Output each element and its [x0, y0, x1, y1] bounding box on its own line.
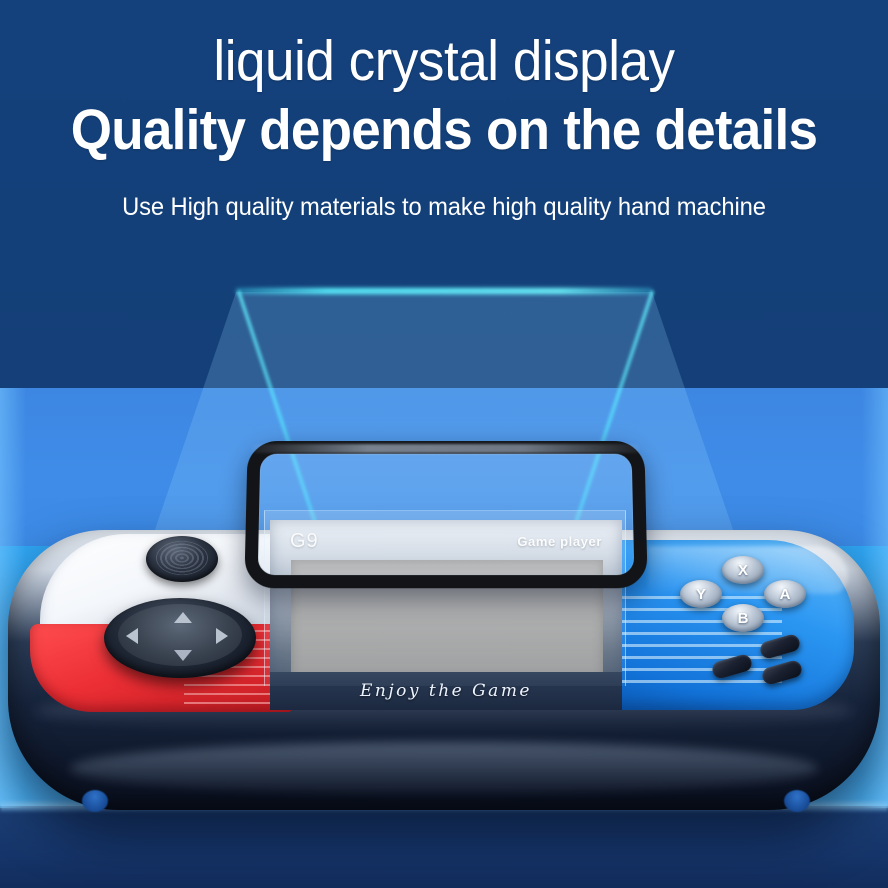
screen-protector-highlight: [252, 444, 640, 453]
tagline-band: Enjoy the Game: [270, 672, 622, 710]
analog-stick-rings: [156, 541, 208, 575]
product-banner: liquid crystal display Quality depends o…: [0, 0, 888, 888]
face-button-x[interactable]: X: [722, 556, 764, 584]
tagline-text: Enjoy the Game: [360, 681, 532, 701]
face-button-b[interactable]: B: [722, 604, 764, 632]
console-body-gloss: [70, 742, 818, 794]
dpad-up-icon[interactable]: [174, 612, 192, 623]
dpad-down-icon[interactable]: [174, 650, 192, 661]
header-text-block: liquid crystal display Quality depends o…: [0, 0, 888, 220]
headline-secondary: Quality depends on the details: [31, 102, 857, 159]
headline-primary: liquid crystal display: [31, 33, 857, 90]
face-button-y[interactable]: Y: [680, 580, 722, 608]
dpad-right-icon[interactable]: [216, 628, 228, 644]
dpad-left-icon[interactable]: [126, 628, 138, 644]
face-button-a[interactable]: A: [764, 580, 806, 608]
subheadline: Use High quality materials to make high …: [22, 195, 866, 220]
console-foot-left: [82, 790, 108, 812]
console-foot-right: [784, 790, 810, 812]
screen-protector-frame: [244, 441, 647, 588]
